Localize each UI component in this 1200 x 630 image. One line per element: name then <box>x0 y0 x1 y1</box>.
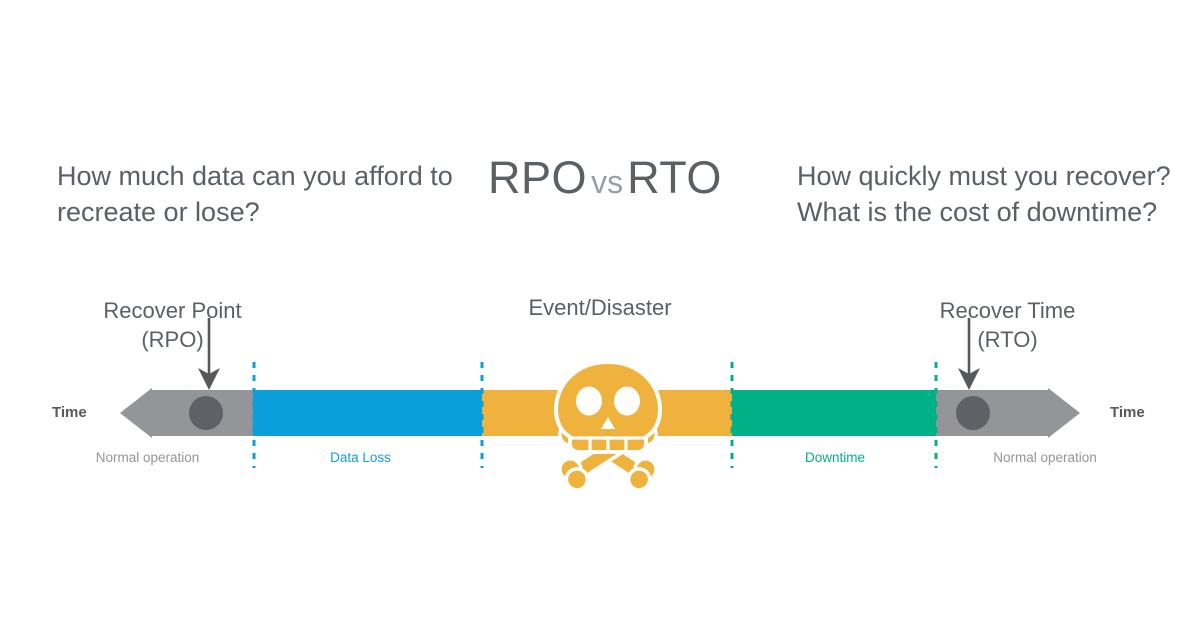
time-axis-label-left: Time <box>52 404 87 421</box>
recovery-point-marker <box>189 396 223 430</box>
caption-normal-operation-before: Normal operation <box>80 450 215 465</box>
timeline-right-arrowhead <box>1048 388 1080 438</box>
caption-normal-operation-after: Normal operation <box>970 450 1120 465</box>
recovery-timeline <box>0 0 1200 630</box>
skull-eye-left <box>576 387 602 416</box>
segment-downtime <box>732 390 936 436</box>
segment-normal-operation-after <box>936 390 1050 436</box>
caption-data-loss: Data Loss <box>283 450 438 465</box>
caption-downtime: Downtime <box>760 450 910 465</box>
time-axis-label-right: Time <box>1110 404 1145 421</box>
skull-eye-right <box>614 387 640 416</box>
segment-data-loss <box>253 390 482 436</box>
skull-and-crossbones-icon <box>556 362 660 494</box>
recovery-time-marker <box>956 396 990 430</box>
diagram-canvas: How much data can you afford to recreate… <box>0 0 1200 630</box>
timeline-left-arrowhead <box>120 388 152 438</box>
